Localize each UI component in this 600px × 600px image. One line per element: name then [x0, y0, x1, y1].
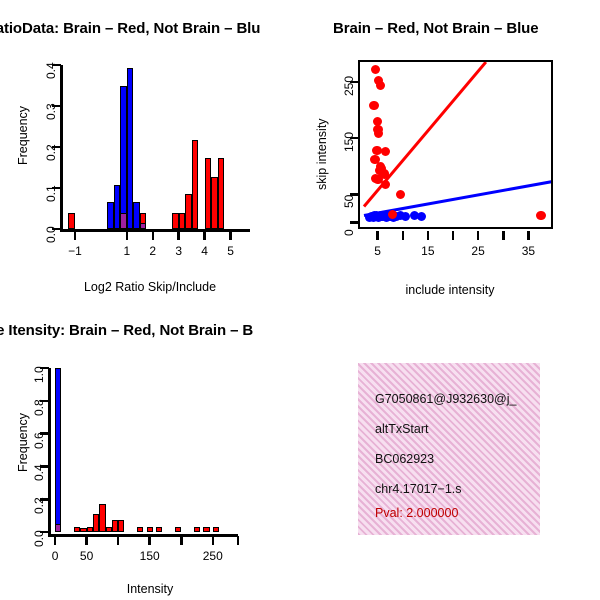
annotation-info-panel: G7050861@J932630@j_ altTxStart BC062923 … [358, 363, 540, 535]
histogram-bar [114, 185, 120, 229]
ratio-histogram-plot-area [62, 60, 250, 230]
histogram-bar [55, 524, 61, 532]
x-tick-label: 150 [130, 549, 170, 563]
histogram-bar [127, 68, 133, 229]
y-tick-label: 0.1 [44, 185, 58, 202]
x-tick-mark [237, 536, 240, 545]
y-tick-label: 50 [342, 195, 356, 208]
histogram-bar [137, 527, 143, 532]
y-tick-label: 1.0 [32, 366, 46, 383]
y-tick-label: 0.4 [44, 62, 58, 79]
x-tick-mark [180, 536, 183, 545]
scatter-point [381, 180, 390, 189]
x-tick-mark [85, 536, 88, 545]
x-tick-mark [477, 231, 480, 240]
histogram-bar [133, 202, 139, 229]
histogram-bar [179, 213, 185, 229]
x-tick-mark [229, 231, 232, 240]
histogram-bar [192, 140, 198, 229]
histogram-bar [218, 158, 224, 229]
x-tick-mark [177, 231, 180, 240]
histogram-bar [172, 213, 178, 229]
histogram-bar [213, 527, 219, 532]
scatter-title: Brain – Red, Not Brain – Blue [333, 20, 538, 37]
info-line-locus: chr4.17017−1.s [375, 482, 462, 496]
histogram-bar [120, 213, 126, 229]
y-tick-label: 0.8 [32, 399, 46, 416]
x-tick-label: 50 [67, 549, 107, 563]
scatter-point [376, 81, 385, 90]
ratio-histogram-xlabel: Log2 Ratio Skip/Include [60, 280, 240, 294]
y-tick-label: 250 [342, 76, 356, 96]
panel-intensity-histogram: ne Itensity: Brain – Red, Not Brain – B … [0, 300, 300, 600]
y-tick-mark [350, 221, 359, 224]
x-tick-mark [452, 231, 455, 240]
x-tick-mark [148, 536, 151, 545]
x-tick-label: 15 [408, 244, 448, 258]
scatter-point [401, 212, 410, 221]
ratio-histogram-ylabel: Frequency [16, 106, 30, 165]
x-tick-mark [212, 536, 215, 545]
histogram-bar [147, 527, 153, 532]
x-tick-mark [117, 536, 120, 545]
y-tick-label: 0.2 [32, 498, 46, 515]
x-tick-mark [502, 231, 505, 240]
x-tick-label: 25 [458, 244, 498, 258]
scatter-plot-area [360, 62, 551, 227]
histogram-bar [55, 368, 61, 532]
y-tick-label: 0.4 [32, 465, 46, 482]
histogram-bar [156, 527, 162, 532]
y-tick-label: 0.3 [44, 103, 58, 120]
histogram-bar [140, 223, 146, 229]
x-tick-label: −1 [55, 244, 95, 258]
x-tick-mark [427, 231, 430, 240]
intensity-histogram-x-axis [48, 534, 238, 537]
histogram-bar [205, 158, 211, 229]
x-tick-label: 5 [358, 244, 398, 258]
info-line-pval: Pval: 2.000000 [375, 506, 458, 520]
ratio-histogram-title: RatioData: Brain – Red, Not Brain – Blu [0, 20, 260, 37]
x-tick-mark [376, 231, 379, 240]
intensity-histogram-title: ne Itensity: Brain – Red, Not Brain – B [0, 322, 253, 339]
histogram-bar [118, 520, 124, 532]
y-tick-label: 0.0 [32, 530, 46, 547]
scatter-point [536, 211, 545, 220]
scatter-point [381, 147, 390, 156]
y-tick-label: 150 [342, 132, 356, 152]
panel-ratio-histogram: RatioData: Brain – Red, Not Brain – Blu … [0, 0, 300, 300]
x-tick-mark [74, 231, 77, 240]
panel-intensity-scatter: Brain – Red, Not Brain – Blue skip inten… [300, 0, 600, 300]
info-line-probe-id: G7050861@J932630@j_ [375, 392, 516, 406]
intensity-histogram-plot-area [50, 366, 238, 534]
scatter-point [417, 212, 426, 221]
figure-canvas: RatioData: Brain – Red, Not Brain – Blu … [0, 0, 600, 600]
x-tick-mark [203, 231, 206, 240]
histogram-bar [211, 177, 217, 229]
scatter-point [371, 65, 380, 74]
x-tick-mark [126, 231, 129, 240]
x-tick-mark [152, 231, 155, 240]
histogram-bar [194, 527, 200, 532]
intensity-histogram-ylabel: Frequency [16, 413, 30, 472]
y-tick-label: 0.0 [44, 226, 58, 243]
x-tick-label: 5 [211, 244, 251, 258]
scatter-point [396, 190, 405, 199]
scatter-point [369, 101, 378, 110]
histogram-bar [68, 213, 74, 229]
x-tick-mark [402, 231, 405, 240]
scatter-ylabel: skip intensity [315, 118, 329, 190]
x-tick-mark [527, 231, 530, 240]
x-tick-mark [54, 536, 57, 545]
y-tick-label: 0 [342, 230, 356, 237]
x-tick-label: 250 [193, 549, 233, 563]
y-tick-label: 0.6 [32, 432, 46, 449]
scatter-xlabel: include intensity [360, 283, 540, 297]
histogram-bar [107, 202, 113, 229]
x-tick-label: 35 [508, 244, 548, 258]
histogram-bar [203, 527, 209, 532]
histogram-bar [175, 527, 181, 532]
scatter-point [374, 129, 383, 138]
intensity-histogram-xlabel: Intensity [60, 582, 240, 596]
info-line-event-type: altTxStart [375, 422, 429, 436]
y-tick-label: 0.2 [44, 144, 58, 161]
info-line-accession: BC062923 [375, 452, 434, 466]
